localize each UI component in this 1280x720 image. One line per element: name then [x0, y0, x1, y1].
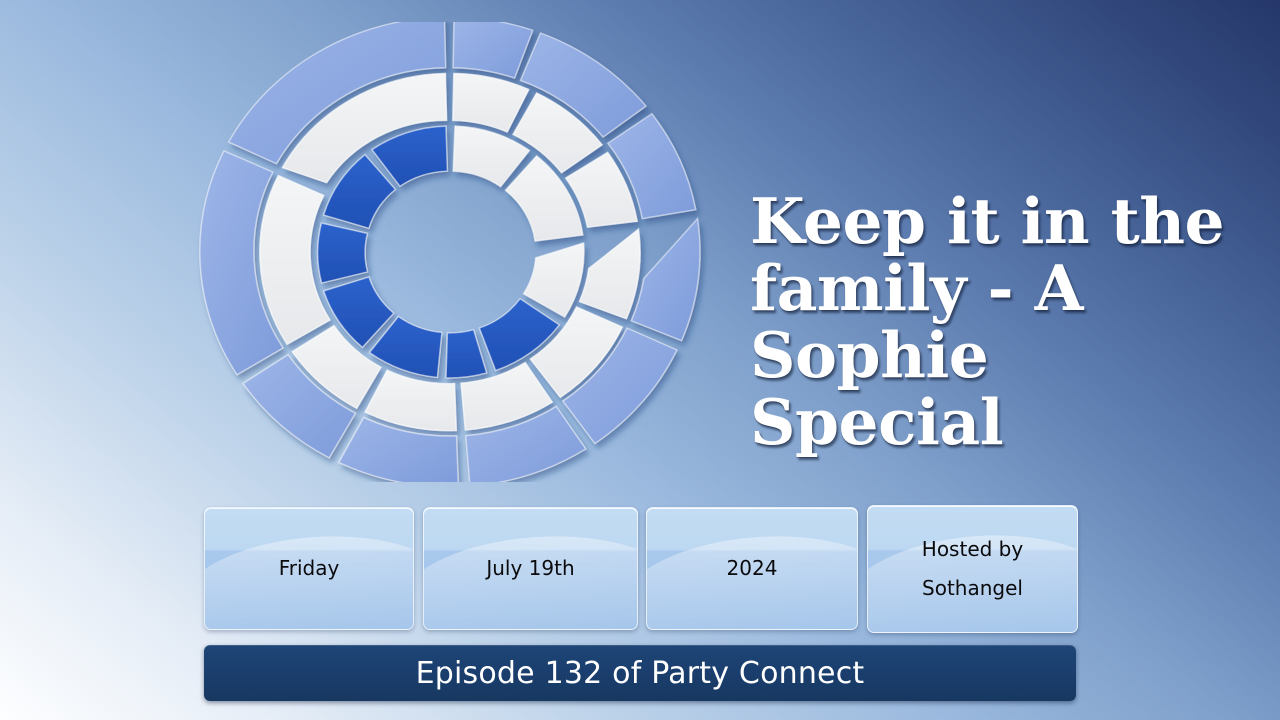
info-box-host-label: Hosted by Sothangel	[914, 530, 1031, 608]
info-box-host: Hosted by Sothangel	[867, 505, 1078, 633]
info-box-year-label: 2024	[719, 549, 786, 588]
info-box-day-label: Friday	[271, 549, 348, 588]
info-box-date: July 19th	[423, 507, 638, 630]
info-box-date-label: July 19th	[478, 549, 582, 588]
page-title: Keep it in the family - A Sophie Special	[750, 188, 1250, 456]
info-box-row: Friday July 19th 2024 Hosted by Sothange…	[204, 507, 1076, 635]
episode-title-card-slide: Keep it in the family - A Sophie Special…	[0, 0, 1280, 720]
info-box-year: 2024	[646, 507, 858, 630]
episode-banner-label: Episode 132 of Party Connect	[416, 656, 865, 691]
episode-banner: Episode 132 of Party Connect	[204, 645, 1076, 701]
info-box-day: Friday	[204, 507, 414, 630]
donut-inner-ring	[318, 126, 584, 378]
segmented-donut-graphic	[192, 22, 708, 482]
